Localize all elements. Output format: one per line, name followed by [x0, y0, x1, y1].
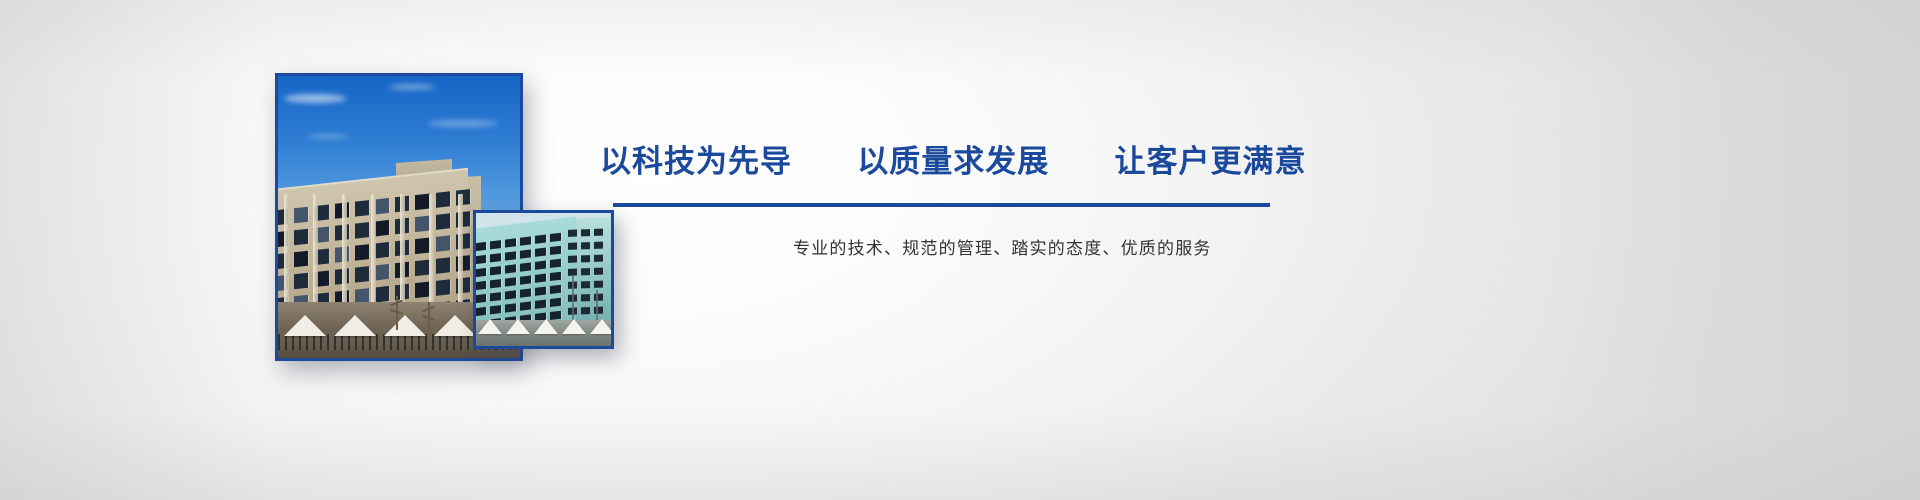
banner-headline: 以科技为先导 以质量求发展 让客户更满意 — [600, 142, 1307, 182]
secondary-building-photo[interactable] — [473, 210, 614, 349]
white-tent — [562, 319, 586, 334]
cloud-shape — [428, 120, 498, 127]
cloud-shape — [308, 134, 348, 139]
banner-subheadline: 专业的技术、规范的管理、踏实的态度、优质的服务 — [793, 236, 1212, 262]
headline-segment-1: 以科技为先导 — [600, 142, 792, 182]
white-tent — [534, 319, 558, 334]
headline-segment-2: 以质量求发展 — [857, 142, 1049, 182]
white-tent — [434, 315, 476, 336]
cloud-shape — [388, 84, 436, 90]
white-tent — [478, 319, 502, 334]
bare-tree — [396, 296, 398, 330]
company-banner: 以科技为先导 以质量求发展 让客户更满意 专业的技术、规范的管理、踏实的态度、优… — [0, 0, 1920, 500]
cloud-shape — [284, 94, 346, 103]
headline-divider — [613, 203, 1270, 207]
white-tent — [384, 315, 426, 336]
headline-segment-3: 让客户更满意 — [1115, 142, 1307, 182]
secondary-photo-image — [476, 213, 611, 346]
white-tent — [334, 315, 376, 336]
white-tent — [284, 315, 326, 336]
white-tent — [506, 319, 530, 334]
bare-tree — [428, 302, 430, 330]
white-tent — [590, 319, 611, 334]
